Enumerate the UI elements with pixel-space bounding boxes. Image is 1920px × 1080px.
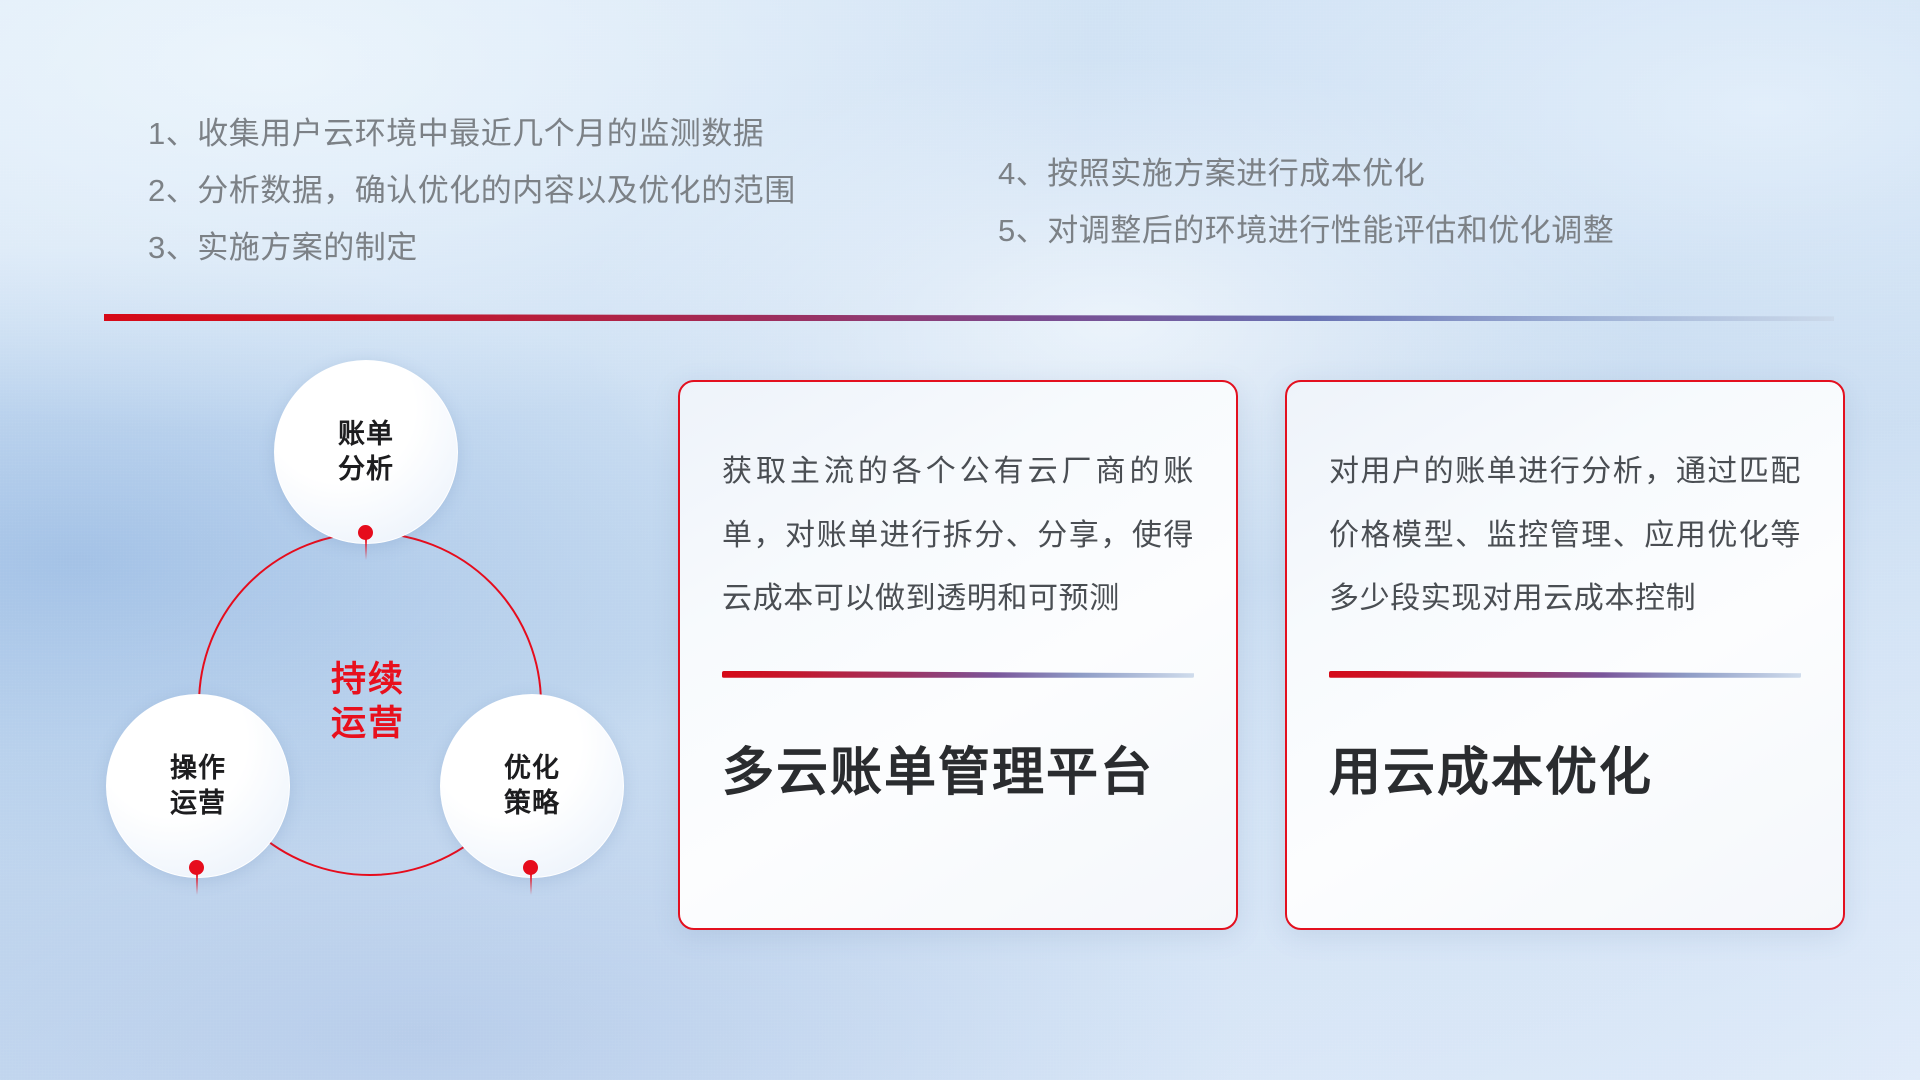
card-multi-cloud-billing-platform[interactable]: 获取主流的各个公有云厂商的账单，对账单进行拆分、分享，使得云成本可以做到透明和可… bbox=[678, 380, 1238, 930]
marker-dot-bottom-left bbox=[189, 860, 204, 875]
section-divider-rule bbox=[104, 314, 1834, 321]
marker-dot-top bbox=[358, 525, 373, 540]
steps-right-column: 4、按照实施方案进行成本优化 5、对调整后的环境进行性能评估和优化调整 bbox=[998, 158, 1614, 272]
marker-tail-bottom-left bbox=[196, 873, 198, 895]
diagram-center-label: 持续 运营 bbox=[198, 532, 538, 872]
steps-left-column: 1、收集用户云环境中最近几个月的监测数据 2、分析数据，确认优化的内容以及优化的… bbox=[148, 118, 796, 289]
step-item-5: 5、对调整后的环境进行性能评估和优化调整 bbox=[998, 215, 1614, 246]
step-item-1: 1、收集用户云环境中最近几个月的监测数据 bbox=[148, 118, 796, 149]
step-item-3: 3、实施方案的制定 bbox=[148, 232, 796, 263]
slide-background: 1、收集用户云环境中最近几个月的监测数据 2、分析数据，确认优化的内容以及优化的… bbox=[0, 0, 1920, 1080]
card-cloud-cost-optimization[interactable]: 对用户的账单进行分析，通过匹配价格模型、监控管理、应用优化等多少段实现对用云成本… bbox=[1285, 380, 1845, 930]
card-title: 多云账单管理平台 bbox=[722, 730, 1194, 805]
node-label-line-1: 账单 bbox=[338, 417, 394, 452]
center-label-line-2: 运营 bbox=[331, 702, 405, 746]
step-item-2: 2、分析数据，确认优化的内容以及优化的范围 bbox=[148, 175, 796, 206]
card-divider-rule bbox=[722, 671, 1194, 678]
card-body-text: 对用户的账单进行分析，通过匹配价格模型、监控管理、应用优化等多少段实现对用云成本… bbox=[1329, 440, 1801, 631]
step-item-4: 4、按照实施方案进行成本优化 bbox=[998, 158, 1614, 189]
card-divider-rule bbox=[1329, 671, 1801, 678]
marker-tail-top bbox=[365, 538, 367, 560]
marker-tail-bottom-right bbox=[530, 873, 532, 895]
card-title: 用云成本优化 bbox=[1329, 730, 1801, 805]
continuous-operation-diagram: 持续 运营 账单 分析 操作 运营 优化 策略 bbox=[88, 352, 648, 952]
node-label-line-2: 分析 bbox=[338, 452, 394, 487]
marker-dot-bottom-right bbox=[523, 860, 538, 875]
diagram-node-bill-analysis[interactable]: 账单 分析 bbox=[274, 360, 458, 544]
center-label-line-1: 持续 bbox=[331, 658, 405, 702]
card-body-text: 获取主流的各个公有云厂商的账单，对账单进行拆分、分享，使得云成本可以做到透明和可… bbox=[722, 440, 1194, 631]
